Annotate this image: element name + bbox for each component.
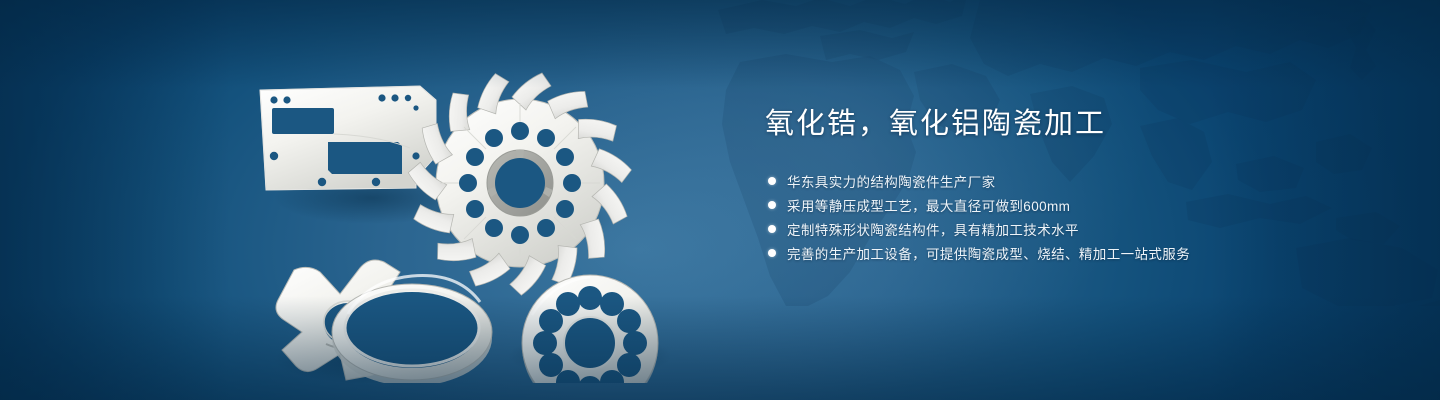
list-item: 完善的生产加工设备，可提供陶瓷成型、烧结、精加工一站式服务 <box>765 241 1305 265</box>
list-item: 华东具实力的结构陶瓷件生产厂家 <box>765 169 1305 193</box>
list-item-label: 定制特殊形状陶瓷结构件，具有精加工技术水平 <box>787 219 1079 239</box>
banner-copy: 氧化锆，氧化铝陶瓷加工 华东具实力的结构陶瓷件生产厂家 采用等静压成型工艺，最大… <box>765 104 1305 265</box>
list-item-label: 采用等静压成型工艺，最大直径可做到600mm <box>787 195 1070 215</box>
list-item: 定制特殊形状陶瓷结构件，具有精加工技术水平 <box>765 217 1305 241</box>
page-title: 氧化锆，氧化铝陶瓷加工 <box>765 104 1305 144</box>
bullet-dot-icon <box>768 177 776 185</box>
bullet-dot-icon <box>768 201 776 209</box>
bullet-dot-icon <box>768 249 776 257</box>
list-item-label: 华东具实力的结构陶瓷件生产厂家 <box>787 171 996 191</box>
bullet-dot-icon <box>768 225 776 233</box>
hero-banner: 氧化锆，氧化铝陶瓷加工 华东具实力的结构陶瓷件生产厂家 采用等静压成型工艺，最大… <box>0 0 1440 400</box>
list-item: 采用等静压成型工艺，最大直径可做到600mm <box>765 193 1305 217</box>
feature-list: 华东具实力的结构陶瓷件生产厂家 采用等静压成型工艺，最大直径可做到600mm 定… <box>765 169 1305 265</box>
list-item-label: 完善的生产加工设备，可提供陶瓷成型、烧结、精加工一站式服务 <box>787 243 1190 263</box>
